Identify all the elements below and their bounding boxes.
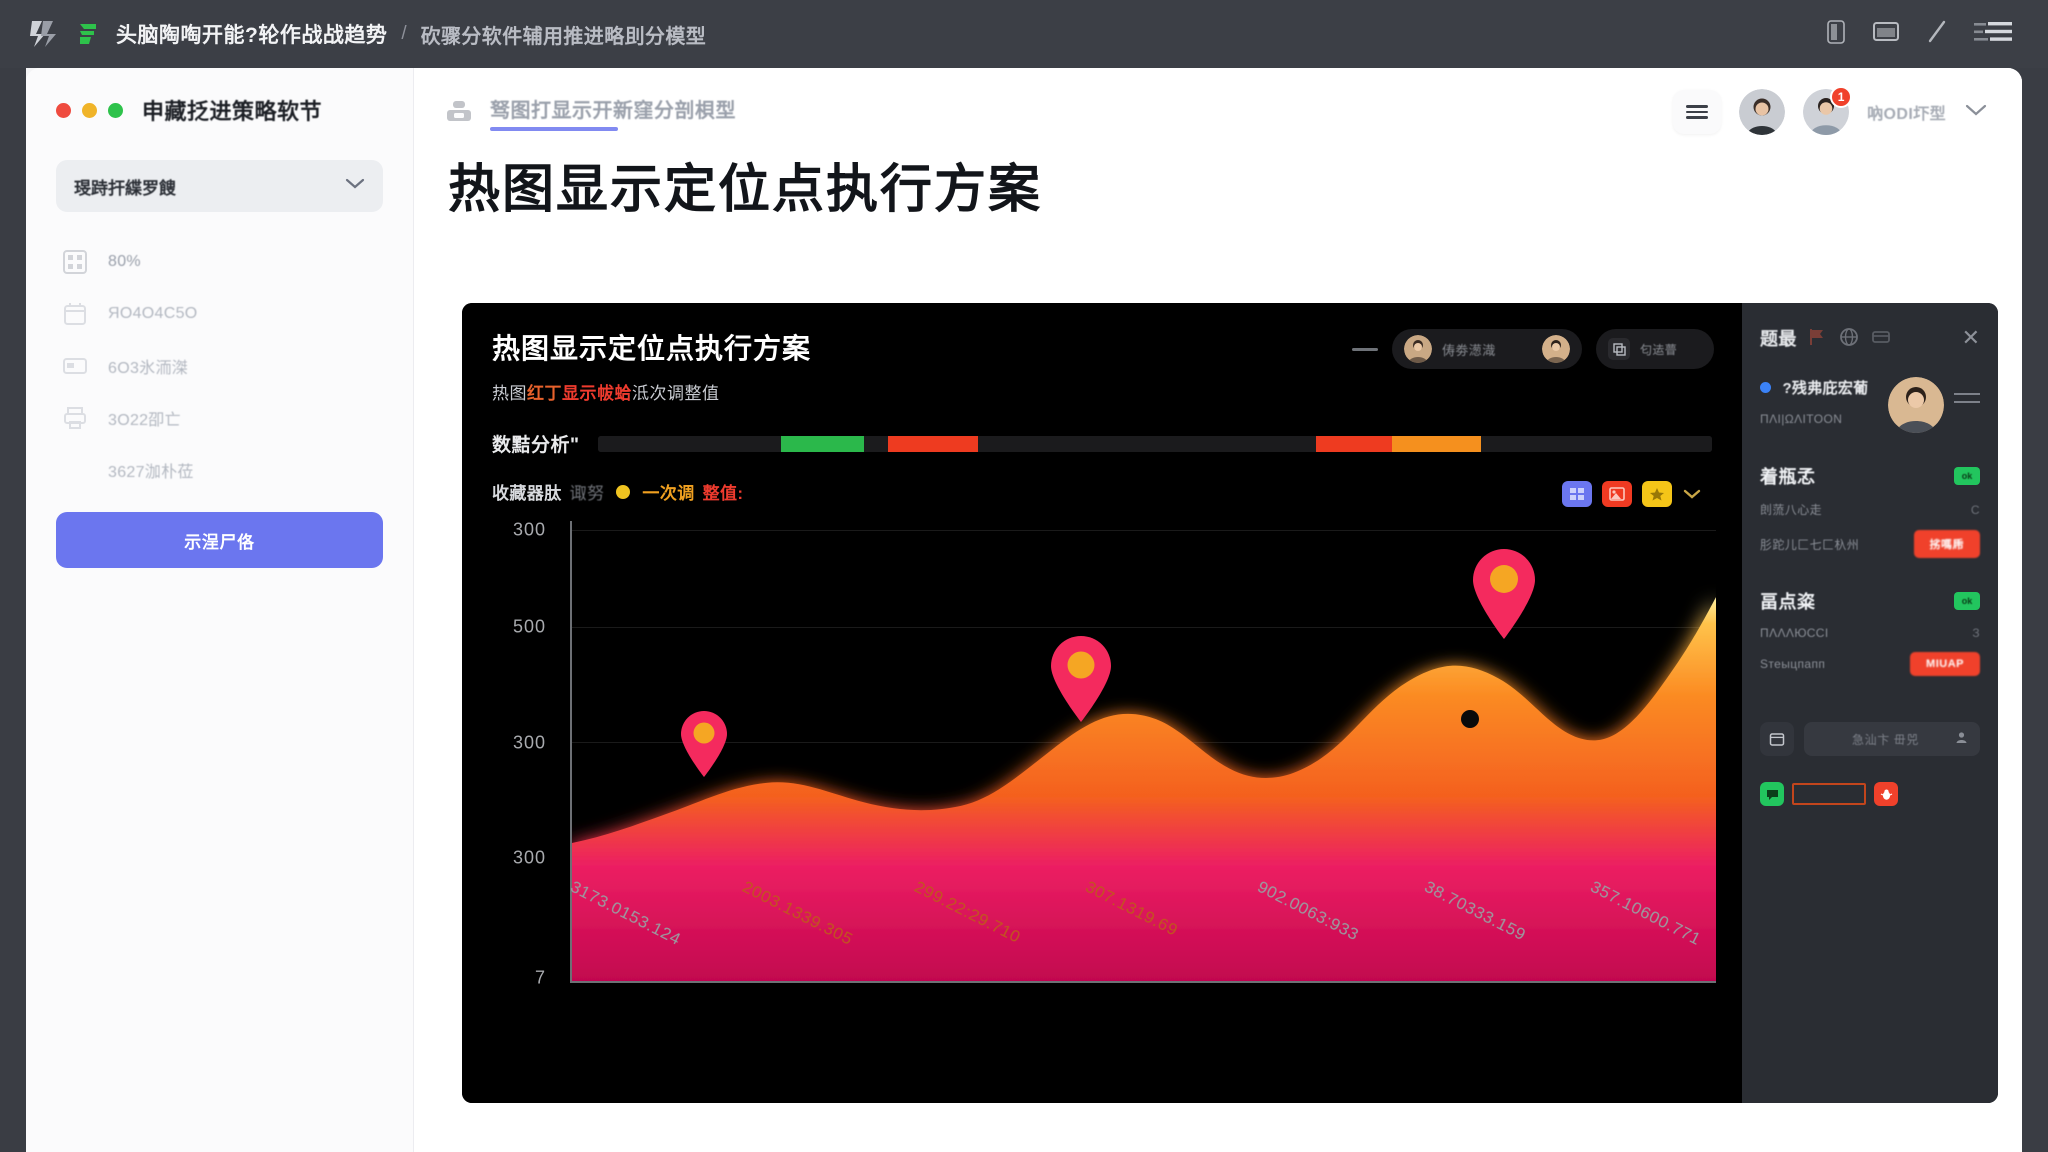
breadcrumb: 头脑陶啕开能?轮作战战趋势 / 砍骤分软件辅用推进略刞分模型 xyxy=(116,19,706,49)
chevron-down-icon[interactable] xyxy=(1682,484,1702,505)
map-pin-marker[interactable] xyxy=(1469,548,1539,645)
data-point-dot[interactable] xyxy=(1461,710,1479,728)
collaborators-pill[interactable]: 俦劵濍渽 xyxy=(1392,329,1582,369)
app-logo-icon[interactable] xyxy=(26,17,60,51)
sidebar-item-label: 3О22卲亡 xyxy=(108,406,181,430)
sidebar-item-label: 80% xyxy=(108,253,141,271)
map-pin-marker[interactable] xyxy=(678,710,730,783)
chart-legend: 收藏器肽 诹努 一次调 整值: xyxy=(492,479,1712,504)
progress-segment xyxy=(781,436,863,452)
sidebar-item-4[interactable]: 3627泇朴莅 xyxy=(56,444,383,496)
chevron-down-icon xyxy=(345,177,365,195)
legend-orange-text: 一次调 xyxy=(642,479,694,504)
traffic-light-maximize[interactable] xyxy=(108,103,123,118)
user-name-row: ?残弗庇宏葡 xyxy=(1760,377,1878,398)
avatar xyxy=(1404,335,1432,363)
progress-segment xyxy=(978,436,1317,452)
row-label: Sтеыцпапп xyxy=(1760,657,1825,671)
app-window: 申藏抸进策略软节 琝跱扞緤罗餿 80% ЯО4О4C5О 6О3氷洏滐 xyxy=(26,68,2022,1152)
x-axis-tick: 902.0063:933 xyxy=(1254,877,1362,945)
avatar-primary[interactable]: 1 xyxy=(1803,89,1849,135)
sidebar-item-0[interactable]: 80% xyxy=(56,236,383,288)
progress-segment xyxy=(1316,436,1392,452)
list-lines-icon[interactable] xyxy=(1954,377,1980,403)
y-axis: 300 500 300 300 7 xyxy=(492,521,558,983)
page-title: 热图显示定位点执行方案 xyxy=(414,156,2022,219)
status-badge: ok xyxy=(1954,592,1980,610)
section-title: 着瓶孞 xyxy=(1760,463,1816,489)
x-axis-tick: 299.22:29.710 xyxy=(910,877,1023,948)
y-axis-tick: 7 xyxy=(535,968,546,989)
card-icon xyxy=(62,353,88,379)
card-subtitle-part-1: 红丁 xyxy=(527,384,562,403)
card-subtitle-part-2: 显示帗 xyxy=(562,384,615,403)
close-icon[interactable]: ✕ xyxy=(1962,327,1980,349)
sidebar-item-label: ЯО4О4C5О xyxy=(108,305,198,323)
green-document-icon[interactable] xyxy=(76,21,102,47)
analysis-progress: 数黠分析" xyxy=(492,430,1712,457)
card-icon[interactable] xyxy=(1871,327,1893,349)
section-header: 畐点粢 ok xyxy=(1760,588,1980,614)
sidebar-cta-button[interactable]: 示浧尸佫 xyxy=(56,512,383,568)
progress-segment xyxy=(1392,436,1481,452)
map-pin-marker[interactable] xyxy=(1047,635,1115,728)
topbar-actions xyxy=(1826,19,2022,50)
card-subtitle-part-3: 蛤 xyxy=(615,384,633,403)
sidebar-item-label: 3627泇朴莅 xyxy=(108,458,194,482)
sidebar-item-1[interactable]: ЯО4О4C5О xyxy=(56,288,383,340)
section-action-button[interactable]: MIUAP xyxy=(1910,652,1980,676)
section-row: ΠΛΛΛЮССΙ З xyxy=(1760,626,1980,640)
card-action-label: 匂迲瞢 xyxy=(1640,341,1702,358)
orange-outline-box[interactable] xyxy=(1792,783,1866,805)
notification-badge: 1 xyxy=(1830,86,1852,108)
details-panel-title: 题最 xyxy=(1760,325,1797,351)
x-axis-tick: 38.70333.159 xyxy=(1420,877,1528,945)
y-axis-tick: 300 xyxy=(513,732,546,753)
chat-icon[interactable] xyxy=(1760,782,1784,806)
main-header-actions: 1 吶ODI圷型 xyxy=(1673,89,1988,135)
card-toolbar: 俦劵濍渽 匂迲瞢 xyxy=(1352,329,1714,369)
section-action-row: 肜跎儿匚七匚杁州 挘嗎乕 xyxy=(1760,530,1980,558)
card-subtitle-part-0: 热图 xyxy=(492,384,527,403)
chart-toolbar xyxy=(1562,481,1702,507)
hamburger-menu-icon[interactable] xyxy=(1974,19,2012,50)
os-topbar: 头脑陶啕开能?轮作战战趋势 / 砍骤分软件辅用推进略刞分模型 xyxy=(0,0,2048,68)
x-axis-tick: 2003.1339.305 xyxy=(739,877,856,950)
search-input[interactable]: 急汕卞 毌兕 xyxy=(1804,722,1980,756)
user-avatar[interactable] xyxy=(1888,377,1944,433)
user-icon xyxy=(1955,731,1968,747)
sidebar-title: 申藏抸进策略软节 xyxy=(142,94,322,126)
y-axis-tick: 300 xyxy=(513,520,546,541)
progress-track[interactable] xyxy=(598,436,1712,452)
x-axis: 3173.0153.124 2003.1339.305 299.22:29.71… xyxy=(570,871,1716,991)
details-panel-footer xyxy=(1760,782,1980,806)
progress-label: 数黠分析" xyxy=(492,430,580,457)
tab-label: 驽图打显示开新窪分剖梖型 xyxy=(490,100,736,122)
y-axis-tick: 300 xyxy=(513,848,546,869)
section-action-row: Sтеыцпапп MIUAP xyxy=(1760,652,1980,676)
window-icon[interactable] xyxy=(1872,20,1900,49)
tab-underline xyxy=(490,127,618,131)
details-panel-tools: 急汕卞 毌兕 xyxy=(1760,722,1980,756)
progress-segment xyxy=(888,436,977,452)
chart-plot: 300 500 300 300 7 xyxy=(492,521,1716,983)
breadcrumb-sub[interactable]: 砍骤分软件辅用推进略刞分模型 xyxy=(421,20,707,49)
sidebar-item-3[interactable]: 3О22卲亡 xyxy=(56,392,383,444)
status-badge: ok xyxy=(1954,467,1980,485)
copy-icon xyxy=(1608,338,1630,360)
row-value: З xyxy=(1972,626,1980,640)
user-info: ?残弗庇宏葡 ΠΛΙ|ΩΛΙΤΟΟΝ xyxy=(1760,377,1878,426)
printer-icon xyxy=(62,405,88,431)
section-header: 着瓶孞 ok xyxy=(1760,463,1980,489)
progress-segment xyxy=(864,436,889,452)
sidebar-select-value: 琝跱扞緤罗餿 xyxy=(74,174,176,199)
x-axis-tick: 3173.0153.124 xyxy=(567,877,684,950)
avatar xyxy=(1542,335,1570,363)
robot-icon xyxy=(444,99,474,125)
pill-text: 俦劵濍渽 xyxy=(1442,340,1532,359)
calendar-icon[interactable] xyxy=(1760,722,1794,756)
x-axis-tick: 307.1319.69 xyxy=(1082,877,1181,941)
card-subtitle: 热图红丁显示帗蛤泜次调整值 xyxy=(492,379,1712,404)
legend-dot-icon xyxy=(616,485,630,499)
chevron-down-icon[interactable] xyxy=(1964,103,1988,122)
minus-icon[interactable] xyxy=(1352,348,1378,351)
flag-icon[interactable] xyxy=(1807,327,1829,349)
user-name: ?残弗庇宏葡 xyxy=(1782,380,1868,397)
details-section-1: 畐点粢 ok ΠΛΛΛЮССΙ З Sтеыцпапп MIUAP xyxy=(1760,588,1980,676)
progress-segment xyxy=(598,436,782,452)
sidebar-header: 申藏抸进策略软节 xyxy=(56,94,383,126)
calendar-icon xyxy=(62,301,88,327)
card-action-button[interactable]: 匂迲瞢 xyxy=(1596,329,1714,369)
y-axis-tick: 500 xyxy=(513,617,546,638)
row-label: 肜跎儿匚七匚杁州 xyxy=(1760,536,1859,553)
traffic-light-close[interactable] xyxy=(56,103,71,118)
sidebar: 申藏抸进策略软节 琝跱扞緤罗餿 80% ЯО4О4C5О 6О3氷洏滐 xyxy=(26,68,414,1152)
section-title: 畐点粢 xyxy=(1760,588,1816,614)
section-row: 剆蓅八心走 C xyxy=(1760,501,1980,518)
details-panel-header: 题最 ✕ xyxy=(1760,325,1980,351)
details-section-0: 着瓶孞 ok 剆蓅八心走 C 肜跎儿匚七匚杁州 挘嗎乕 xyxy=(1760,463,1980,558)
user-name-label: 吶ODI圷型 xyxy=(1867,100,1946,124)
tablet-icon[interactable] xyxy=(1826,20,1846,49)
image-button[interactable] xyxy=(1602,481,1632,507)
x-axis-tick: 357.10600.771 xyxy=(1587,877,1704,950)
progress-segment xyxy=(1481,436,1712,452)
details-panel-user: ?残弗庇宏葡 ΠΛΙ|ΩΛΙΤΟΟΝ xyxy=(1760,377,1980,433)
main-header: 驽图打显示开新窪分剖梖型 xyxy=(414,68,2022,156)
search-placeholder: 急汕卞 毌兕 xyxy=(1816,731,1955,748)
grid-button[interactable] xyxy=(1562,481,1592,507)
user-meta: ΠΛΙ|ΩΛΙΤΟΟΝ xyxy=(1760,412,1878,426)
bug-icon[interactable] xyxy=(1874,782,1898,806)
section-action-button[interactable]: 挘嗎乕 xyxy=(1914,530,1981,558)
qr-code-icon xyxy=(62,249,88,275)
globe-icon[interactable] xyxy=(1839,327,1861,349)
main-hamburger-button[interactable] xyxy=(1673,90,1721,134)
legend-red-text: 整值: xyxy=(703,479,744,504)
traffic-light-minimize[interactable] xyxy=(82,103,97,118)
row-value: C xyxy=(1971,503,1980,517)
row-label: ΠΛΛΛЮССΙ xyxy=(1760,626,1829,640)
star-button[interactable] xyxy=(1642,481,1672,507)
sidebar-item-label: 6О3氷洏滐 xyxy=(108,354,188,378)
legend-bold-text: 收藏器肽 xyxy=(492,479,562,504)
tab-active[interactable]: 驽图打显示开新窪分剖梖型 xyxy=(490,94,736,131)
sidebar-project-select[interactable]: 琝跱扞緤罗餿 xyxy=(56,160,383,212)
breadcrumb-separator: / xyxy=(401,23,406,45)
avatar-secondary[interactable] xyxy=(1739,89,1785,135)
legend-muted-text: 诹努 xyxy=(570,479,605,504)
heatmap-card-body: 热图显示定位点执行方案 热图红丁显示帗蛤泜次调整值 数黠分析" xyxy=(462,303,1742,1103)
heatmap-card: 热图显示定位点执行方案 热图红丁显示帗蛤泜次调整值 数黠分析" xyxy=(462,303,1998,1103)
breadcrumb-main[interactable]: 头脑陶啕开能?轮作战战趋势 xyxy=(116,19,387,49)
status-dot-icon xyxy=(1760,382,1771,393)
pen-slash-icon[interactable] xyxy=(1926,19,1948,50)
row-label: 剆蓅八心走 xyxy=(1760,501,1822,518)
card-subtitle-part-4: 泜次调整值 xyxy=(632,384,720,403)
sidebar-item-2[interactable]: 6О3氷洏滐 xyxy=(56,340,383,392)
details-panel: 题最 ✕ ?残弗庇宏葡 ΠΛΙ|ΩΛΙΤΟΟΝ xyxy=(1742,303,1998,1103)
